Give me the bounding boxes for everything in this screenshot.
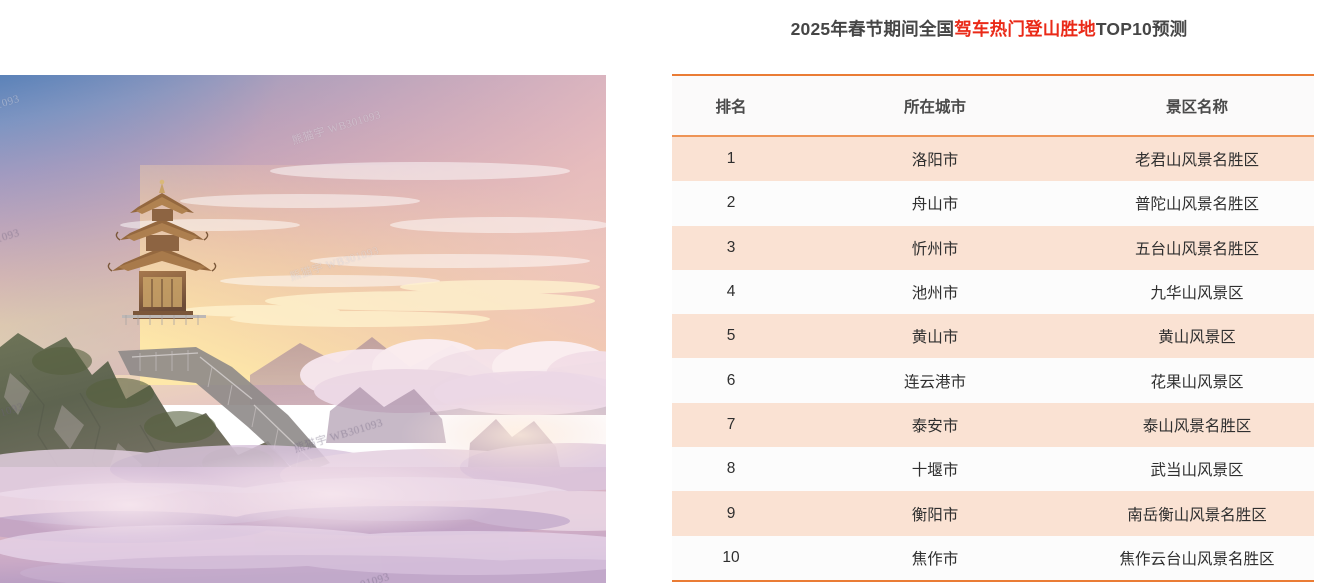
cell-rank: 1 bbox=[672, 136, 790, 181]
page-title-accent: 驾车热门登山胜地 bbox=[954, 19, 1096, 39]
cell-city: 泰安市 bbox=[790, 403, 1080, 447]
cell-city: 连云港市 bbox=[790, 358, 1080, 402]
cell-spot: 九华山风景区 bbox=[1080, 270, 1314, 314]
cell-spot: 焦作云台山风景名胜区 bbox=[1080, 536, 1314, 581]
cell-city: 十堰市 bbox=[790, 447, 1080, 491]
cell-spot: 泰山风景名胜区 bbox=[1080, 403, 1314, 447]
column-header-city: 所在城市 bbox=[790, 75, 1080, 136]
cell-spot: 武当山风景区 bbox=[1080, 447, 1314, 491]
cell-rank: 3 bbox=[672, 226, 790, 270]
cell-spot: 黄山风景区 bbox=[1080, 314, 1314, 358]
mountain-photo: 01093 熊猫宇 WB301093 01093 熊猫宇 WB301093 01… bbox=[0, 75, 606, 583]
cell-rank: 4 bbox=[672, 270, 790, 314]
page-title-prefix: 2025年春节期间全国 bbox=[791, 19, 955, 39]
cell-spot: 老君山风景名胜区 bbox=[1080, 136, 1314, 181]
column-header-rank: 排名 bbox=[672, 75, 790, 136]
cell-rank: 10 bbox=[672, 536, 790, 581]
table-row[interactable]: 2 舟山市 普陀山风景名胜区 bbox=[672, 181, 1314, 225]
table-row[interactable]: 4 池州市 九华山风景区 bbox=[672, 270, 1314, 314]
cell-city: 焦作市 bbox=[790, 536, 1080, 581]
cell-rank: 7 bbox=[672, 403, 790, 447]
table-row[interactable]: 7 泰安市 泰山风景名胜区 bbox=[672, 403, 1314, 447]
cell-spot: 花果山风景区 bbox=[1080, 358, 1314, 402]
cell-city: 舟山市 bbox=[790, 181, 1080, 225]
cell-spot: 南岳衡山风景名胜区 bbox=[1080, 491, 1314, 535]
cell-rank: 6 bbox=[672, 358, 790, 402]
column-header-spot: 景区名称 bbox=[1080, 75, 1314, 136]
ranking-report: 2025年春节期间全国驾车热门登山胜地TOP10预测 排名 所在城市 景区名称 … bbox=[660, 0, 1318, 583]
table-row[interactable]: 1 洛阳市 老君山风景名胜区 bbox=[672, 136, 1314, 181]
table-row[interactable]: 3 忻州市 五台山风景名胜区 bbox=[672, 226, 1314, 270]
table-body: 1 洛阳市 老君山风景名胜区 2 舟山市 普陀山风景名胜区 3 忻州市 五台山风… bbox=[672, 136, 1314, 581]
cell-rank: 8 bbox=[672, 447, 790, 491]
cell-rank: 5 bbox=[672, 314, 790, 358]
table-row[interactable]: 9 衡阳市 南岳衡山风景名胜区 bbox=[672, 491, 1314, 535]
page-title-suffix: TOP10预测 bbox=[1096, 19, 1188, 39]
cell-city: 池州市 bbox=[790, 270, 1080, 314]
cell-rank: 9 bbox=[672, 491, 790, 535]
ranking-table: 排名 所在城市 景区名称 1 洛阳市 老君山风景名胜区 2 舟山市 普陀山风景名… bbox=[672, 74, 1314, 582]
page-title: 2025年春节期间全国驾车热门登山胜地TOP10预测 bbox=[660, 16, 1318, 41]
cell-city: 黄山市 bbox=[790, 314, 1080, 358]
cell-city: 衡阳市 bbox=[790, 491, 1080, 535]
cell-rank: 2 bbox=[672, 181, 790, 225]
table-row[interactable]: 5 黄山市 黄山风景区 bbox=[672, 314, 1314, 358]
mountain-photo-image bbox=[0, 75, 606, 583]
table-header-row: 排名 所在城市 景区名称 bbox=[672, 75, 1314, 136]
table-row[interactable]: 10 焦作市 焦作云台山风景名胜区 bbox=[672, 536, 1314, 581]
table-row[interactable]: 6 连云港市 花果山风景区 bbox=[672, 358, 1314, 402]
cell-spot: 五台山风景名胜区 bbox=[1080, 226, 1314, 270]
cell-spot: 普陀山风景名胜区 bbox=[1080, 181, 1314, 225]
table-row[interactable]: 8 十堰市 武当山风景区 bbox=[672, 447, 1314, 491]
cell-city: 忻州市 bbox=[790, 226, 1080, 270]
cell-city: 洛阳市 bbox=[790, 136, 1080, 181]
